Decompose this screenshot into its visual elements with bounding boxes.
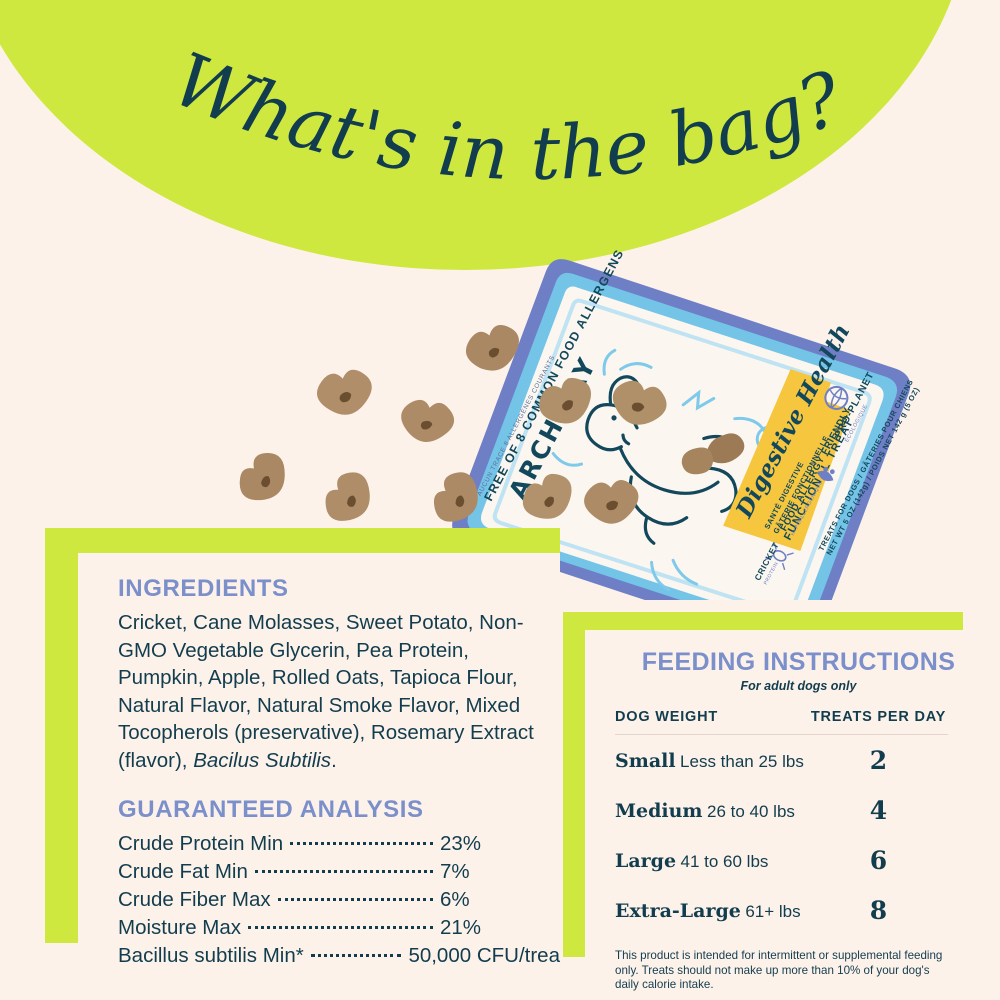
weight-cell: Small Less than 25 lbs [615,735,809,786]
table-row: Extra-Large 61+ lbs 8 [615,885,948,935]
analysis-row: Crude Protein Min 23% [118,830,560,858]
feeding-card-panel: FEEDING INSTRUCTIONS For adult dogs only… [585,630,1000,957]
ingredients-heading: INGREDIENTS [118,575,560,603]
analysis-row: Crude Fiber Max 6% [118,886,560,914]
weight-cell: Large 41 to 60 lbs [615,835,809,885]
weight-range-label: Less than 25 lbs [680,752,804,771]
analysis-label: Crude Fat Min [118,858,248,886]
analysis-label: Crude Protein Min [118,830,283,858]
table-row: Large 41 to 60 lbs 6 [615,835,948,885]
ingredients-text-plain: Cricket, Cane Molasses, Sweet Potato, No… [118,611,534,772]
ingredients-card-panel: INGREDIENTS Cricket, Cane Molasses, Swee… [78,553,560,943]
weight-cell: Extra-Large 61+ lbs [615,885,809,935]
treats-count: 2 [809,735,948,786]
leader-dots [248,926,433,929]
table-row: Medium 26 to 40 lbs 4 [615,785,948,835]
dog-size-label: Small [615,750,676,772]
guaranteed-analysis-heading: GUARANTEED ANALYSIS [118,796,560,824]
analysis-value: 23% [440,830,560,858]
analysis-value: 6% [440,886,560,914]
analysis-row: Crude Fat Min 7% [118,858,560,886]
weight-range-label: 26 to 40 lbs [707,802,795,821]
analysis-row: Moisture Max 21% [118,914,560,942]
analysis-label: Crude Fiber Max [118,886,271,914]
dog-size-label: Large [615,850,676,872]
guaranteed-analysis-block: GUARANTEED ANALYSIS Crude Protein Min 23… [118,796,560,970]
page-title: What's in the bag? [0,30,1000,220]
treats-count: 6 [809,835,948,885]
dog-size-label: Medium [615,800,703,822]
analysis-value: 50,000 CFU/trea [408,942,560,970]
ingredients-text-end: . [331,749,337,772]
analysis-label: Bacillus subtilis Min* [118,942,304,970]
infographic-canvas: What's in the bag? [0,0,1000,1000]
ingredients-text-italic: Bacilus Subtilis [193,749,331,772]
analysis-value: 7% [440,858,560,886]
treats-count: 8 [809,885,948,935]
column-header-dog-weight: DOG WEIGHT [615,709,809,735]
analysis-value: 21% [440,914,560,942]
leader-dots [290,842,433,845]
analysis-label: Moisture Max [118,914,241,942]
table-header-row: DOG WEIGHT TREATS PER DAY [615,709,948,735]
weight-cell: Medium 26 to 40 lbs [615,785,809,835]
ingredients-card: INGREDIENTS Cricket, Cane Molasses, Swee… [45,528,560,943]
weight-range-label: 41 to 60 lbs [681,852,769,871]
column-header-treats-per-day: TREATS PER DAY [809,709,948,735]
leader-dots [255,870,433,873]
dog-size-label: Extra-Large [615,900,741,922]
feeding-subheading: For adult dogs only [615,679,982,693]
page-title-text: What's in the bag? [161,37,854,197]
ingredients-text: Cricket, Cane Molasses, Sweet Potato, No… [118,609,538,774]
analysis-row: Bacillus subtilis Min* 50,000 CFU/trea [118,942,560,970]
table-row: Small Less than 25 lbs 2 [615,735,948,786]
leader-dots [311,954,402,957]
treats-count: 4 [809,785,948,835]
weight-range-label: 61+ lbs [745,902,800,921]
leader-dots [278,898,433,901]
feeding-disclaimer: This product is intended for intermitten… [615,949,950,993]
feeding-instructions-card: FEEDING INSTRUCTIONS For adult dogs only… [563,612,1000,957]
feeding-heading: FEEDING INSTRUCTIONS [615,648,982,677]
feeding-table: DOG WEIGHT TREATS PER DAY Small Less tha… [615,709,948,935]
